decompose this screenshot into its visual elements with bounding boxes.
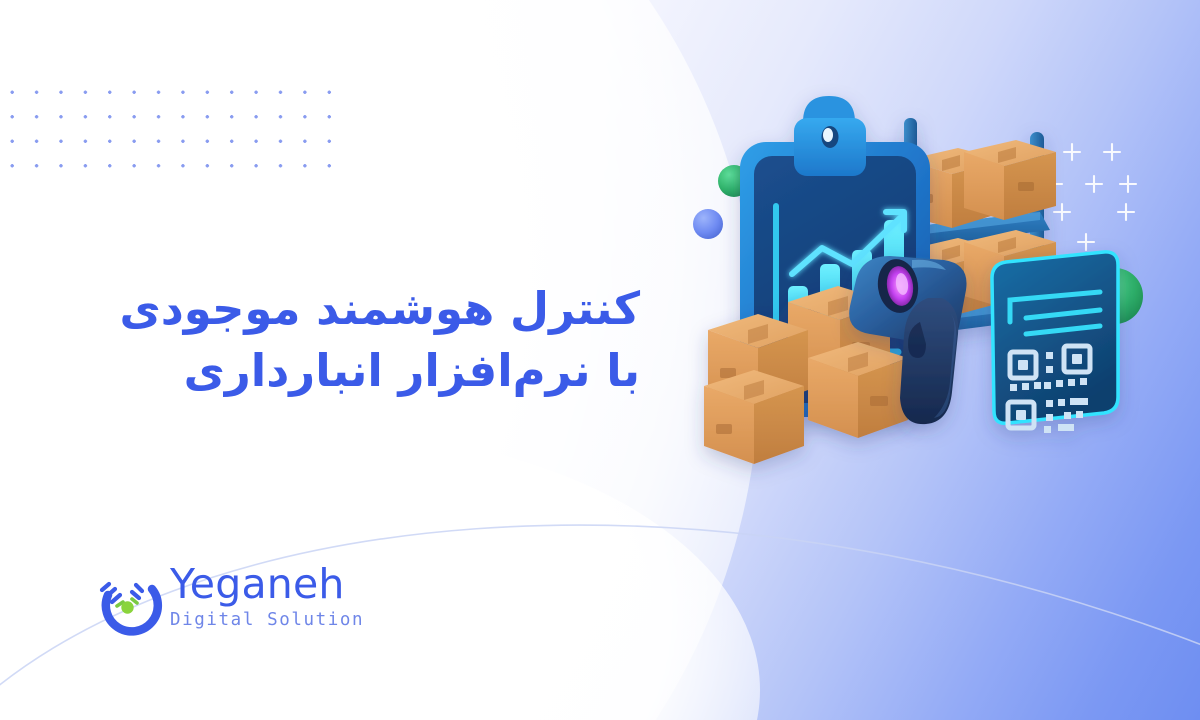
warehouse-inventory-illustration xyxy=(612,60,1172,530)
banner-canvas: کنترل هوشمند موجودی با نرم‌افزار انباردا… xyxy=(0,0,1200,720)
logo-name: Yeganeh xyxy=(170,563,440,606)
yeganeh-arc-mark xyxy=(94,569,168,643)
shelf-box-upper-right xyxy=(964,140,1056,220)
dot-grid-decoration xyxy=(0,76,346,168)
stacked-box-bottom-right xyxy=(808,342,908,438)
stacked-box-bottom-left xyxy=(704,370,804,464)
logo[interactable]: Yeganeh Digital Solution xyxy=(94,565,354,657)
qr-code-card xyxy=(992,252,1118,433)
logo-tagline: Digital Solution xyxy=(170,610,440,630)
headline-line-2: با نرم‌افزار انبارداری xyxy=(40,340,640,402)
blue-sphere-small xyxy=(693,209,723,239)
headline-line-1: کنترل هوشمند موجودی xyxy=(40,278,640,340)
page-title: کنترل هوشمند موجودی با نرم‌افزار انباردا… xyxy=(40,278,640,402)
logo-text: Yeganeh Digital Solution xyxy=(170,563,440,630)
